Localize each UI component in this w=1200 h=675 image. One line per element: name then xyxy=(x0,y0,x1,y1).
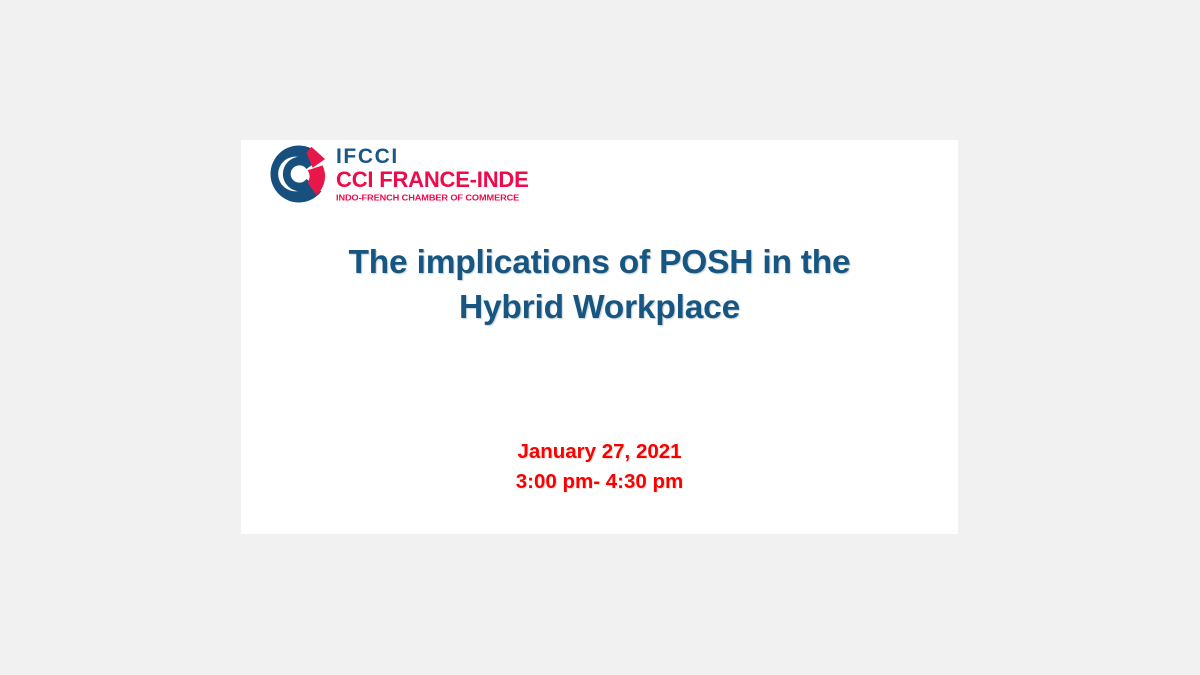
wordmark-tagline: INDO-FRENCH CHAMBER OF COMMERCE xyxy=(336,194,529,202)
slide-title: The implications of POSH in the Hybrid W… xyxy=(296,241,903,330)
ifcci-logo-mark-icon xyxy=(268,143,330,205)
ifcci-wordmark: IFCCI CCI FRANCE-INDE INDO-FRENCH CHAMBE… xyxy=(336,144,529,203)
wordmark-primary: IFCCI xyxy=(336,146,529,167)
presentation-slide: IFCCI CCI FRANCE-INDE INDO-FRENCH CHAMBE… xyxy=(241,140,958,534)
ifcci-logo: IFCCI CCI FRANCE-INDE INDO-FRENCH CHAMBE… xyxy=(268,143,529,205)
slide-title-line-1: The implications of POSH in the xyxy=(349,244,851,281)
slide-title-line-2: Hybrid Workplace xyxy=(459,289,740,326)
slide-datetime: January 27, 2021 3:00 pm- 4:30 pm xyxy=(296,437,903,497)
wordmark-secondary: CCI FRANCE-INDE xyxy=(336,169,529,191)
event-date: January 27, 2021 xyxy=(296,437,903,467)
event-time: 3:00 pm- 4:30 pm xyxy=(296,467,903,497)
